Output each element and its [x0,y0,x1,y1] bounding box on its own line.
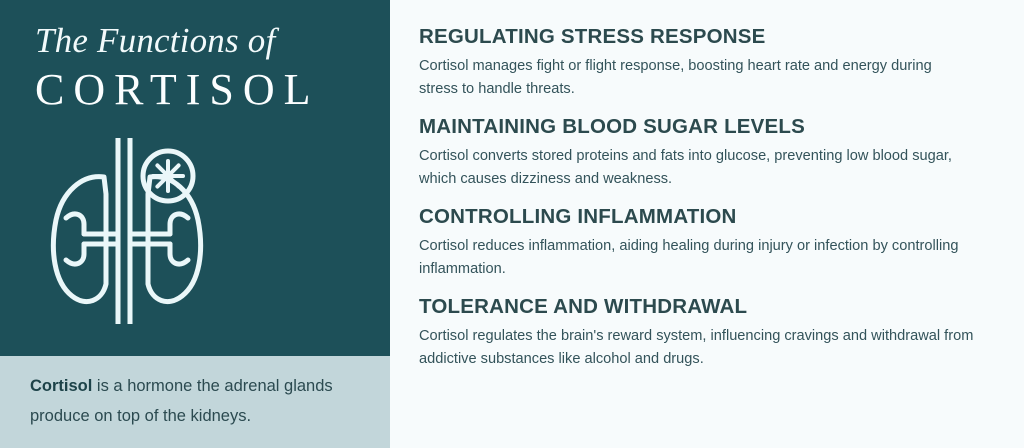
left-column: The Functions of CORTISOL [0,0,390,448]
function-heading: TOLERANCE AND WITHDRAWAL [419,294,994,319]
function-body: Cortisol manages fight or flight respons… [419,55,974,100]
hero-panel: The Functions of CORTISOL [0,0,390,356]
function-item: CONTROLLING INFLAMMATION Cortisol reduce… [419,204,994,280]
caption-bold-lead: Cortisol [30,377,92,395]
function-body: Cortisol converts stored proteins and fa… [419,145,974,190]
page-title: CORTISOL [35,66,365,114]
kidneys-with-adrenal-gland-icon [42,138,232,324]
function-body: Cortisol reduces inflammation, aiding he… [419,235,974,280]
function-heading: REGULATING STRESS RESPONSE [419,24,994,49]
function-item: REGULATING STRESS RESPONSE Cortisol mana… [419,24,994,100]
right-column: REGULATING STRESS RESPONSE Cortisol mana… [390,0,1024,448]
function-heading: CONTROLLING INFLAMMATION [419,204,994,229]
title-script-line: The Functions of [35,22,355,60]
function-item: TOLERANCE AND WITHDRAWAL Cortisol regula… [419,294,994,370]
function-body: Cortisol regulates the brain's reward sy… [419,325,974,370]
cortisol-functions-infographic: The Functions of CORTISOL [0,0,1024,448]
function-item: MAINTAINING BLOOD SUGAR LEVELS Cortisol … [419,114,994,190]
caption-text: Cortisol is a hormone the adrenal glands… [30,371,360,431]
functions-list: REGULATING STRESS RESPONSE Cortisol mana… [419,24,994,370]
function-heading: MAINTAINING BLOOD SUGAR LEVELS [419,114,994,139]
